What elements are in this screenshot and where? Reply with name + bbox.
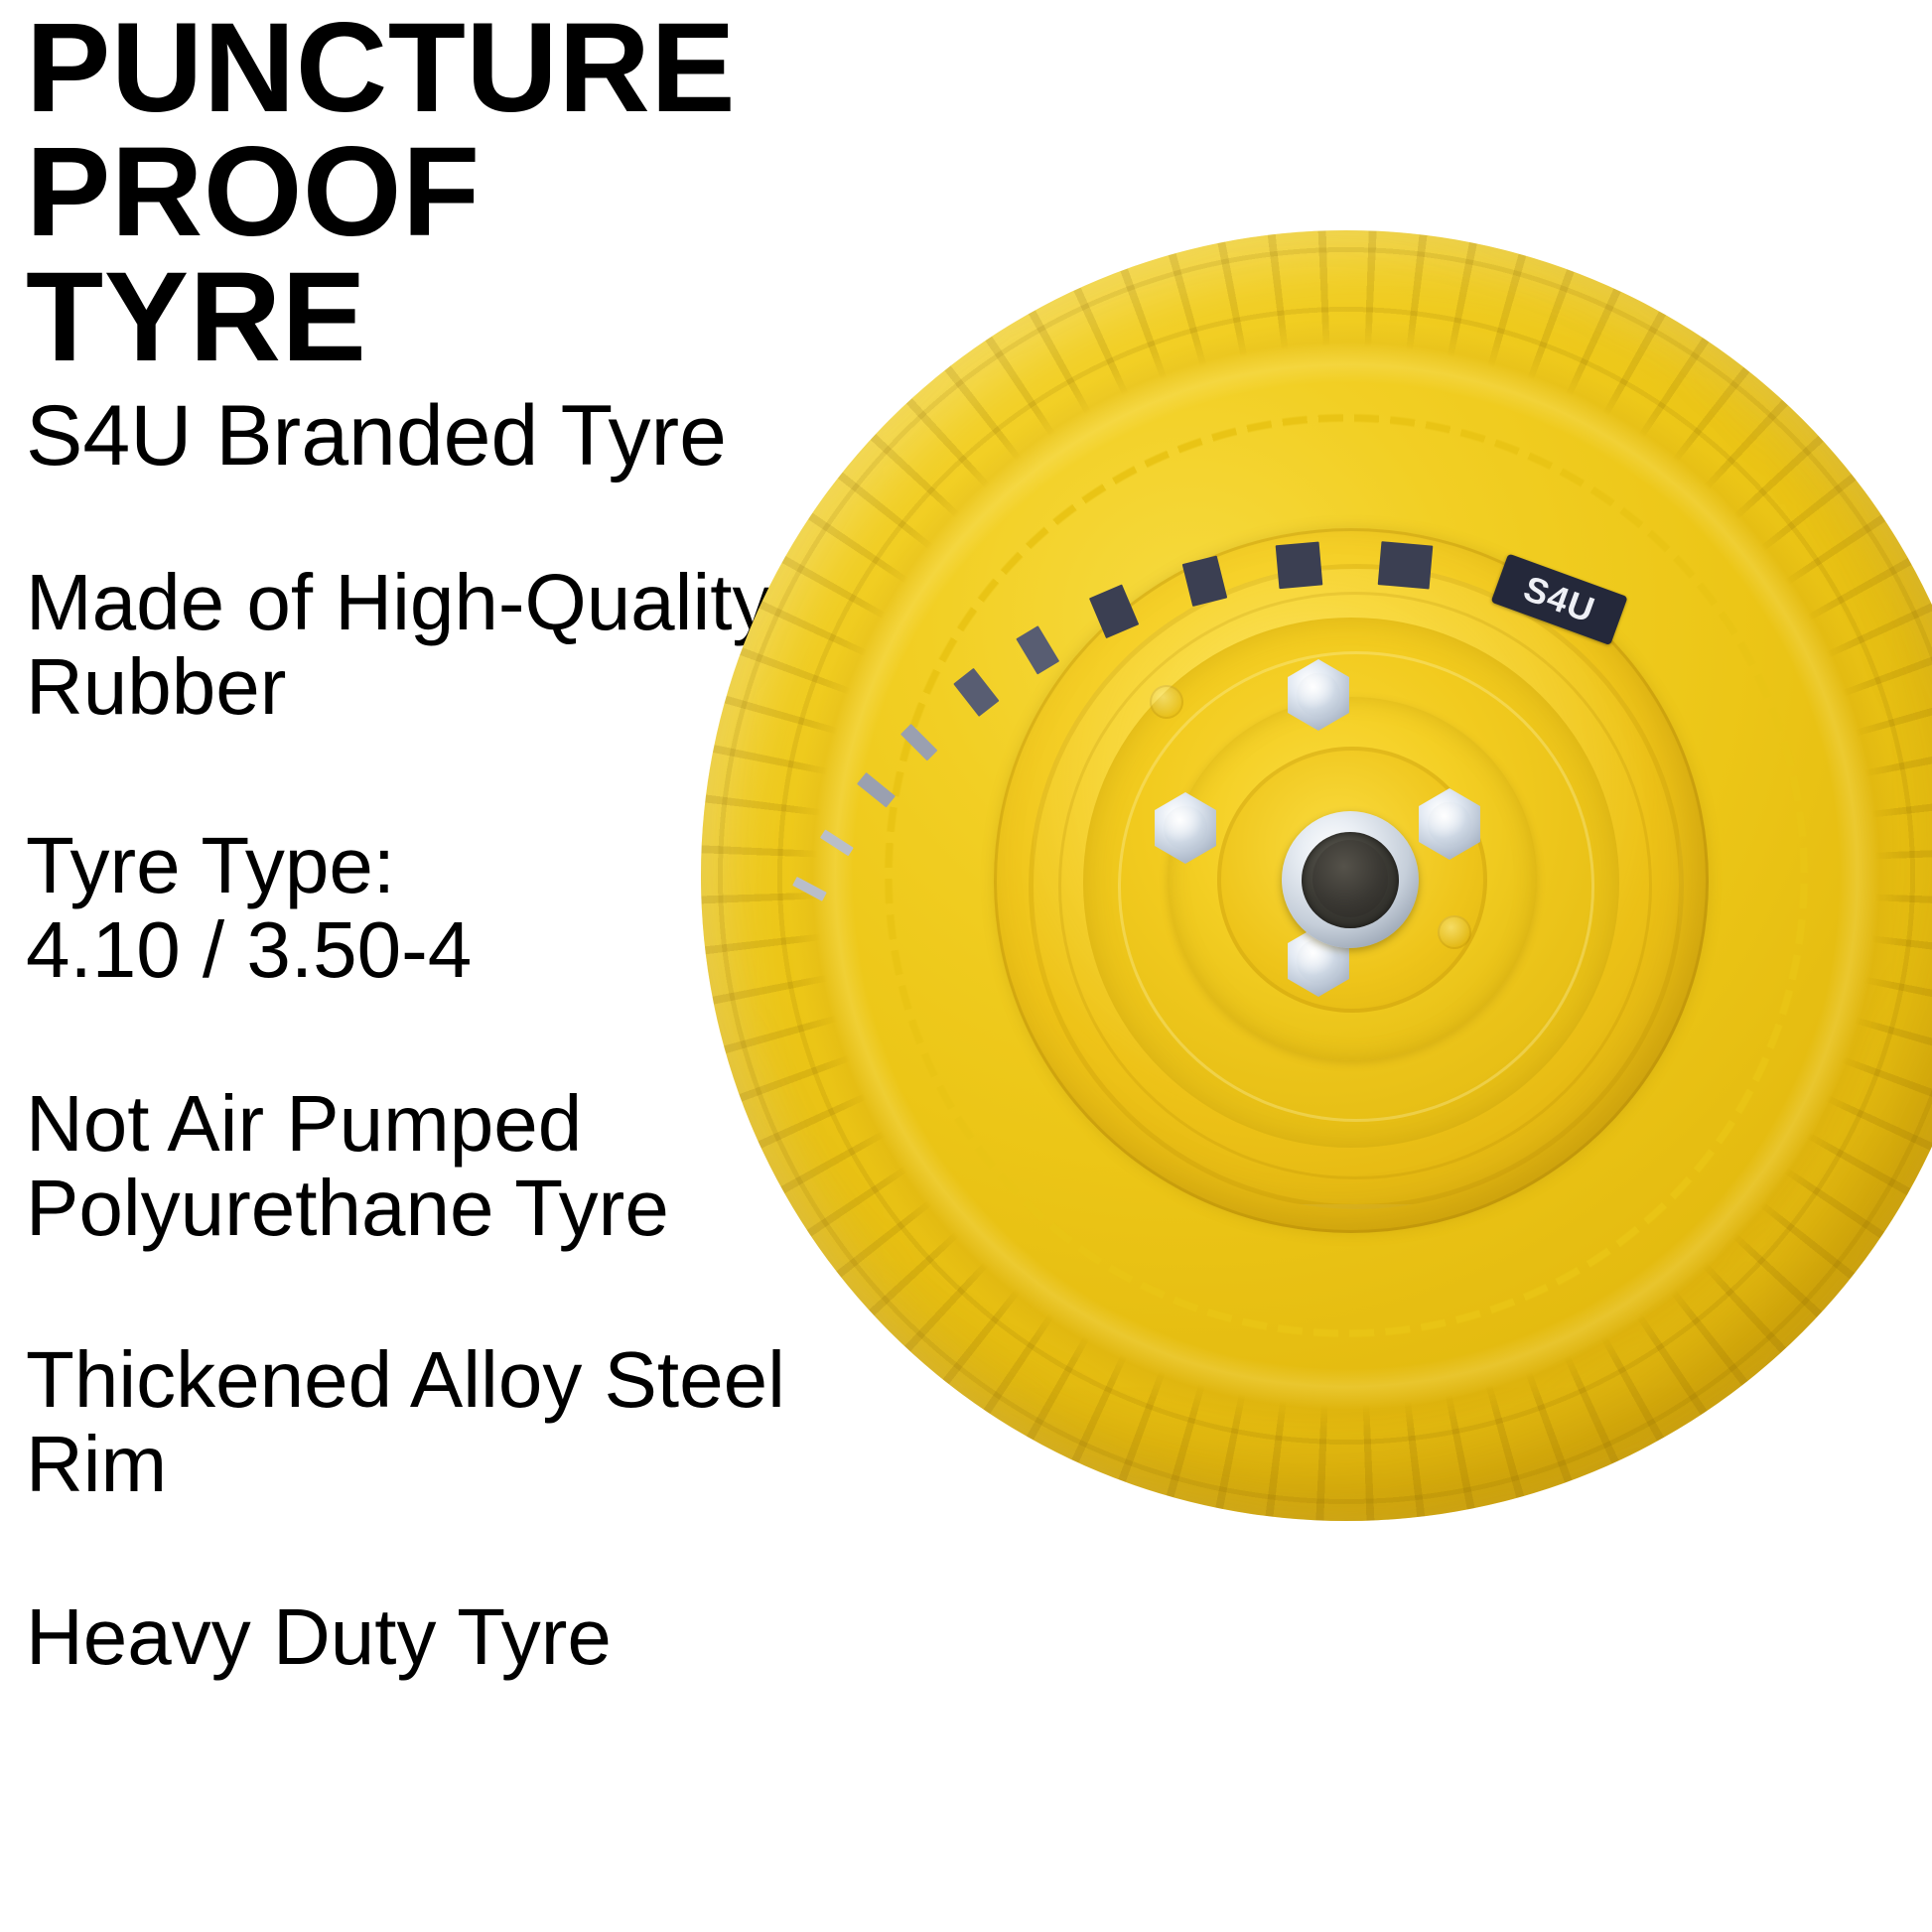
s4u-brand-patch: S4U (1491, 553, 1628, 645)
product-feature-image: S4U PUNCTURE PROOF TYRE S4U Branded Tyre… (0, 0, 1932, 1932)
sticker-dash (1182, 556, 1228, 607)
hub-axle-bore (1312, 840, 1388, 917)
sticker-dash (1089, 585, 1139, 639)
feature-item-5: Heavy Duty Tyre (26, 1595, 820, 1680)
sticker-dash (1016, 625, 1059, 674)
copy-column: PUNCTURE PROOF TYRE S4U Branded Tyre (26, 6, 800, 481)
page-title: PUNCTURE PROOF TYRE (26, 6, 800, 379)
sticker-dash (1378, 541, 1434, 589)
tyre-product-photo: S4U (701, 230, 1932, 1521)
subtitle: S4U Branded Tyre (26, 393, 800, 481)
sticker-dash (1276, 542, 1323, 590)
s4u-brand-label: S4U (1519, 570, 1599, 628)
